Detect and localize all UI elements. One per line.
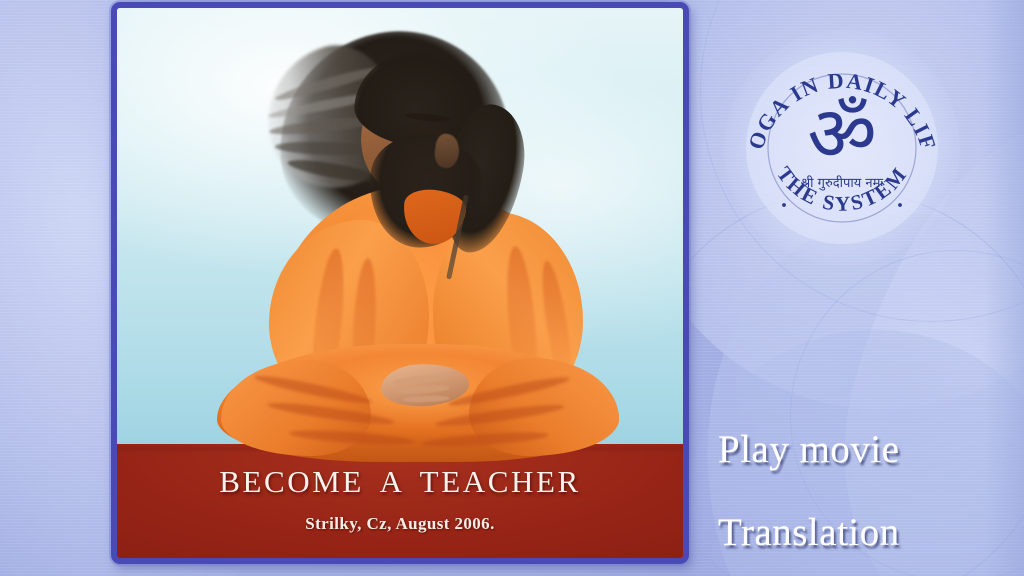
cover-title: BECOME A TEACHER [117, 464, 683, 500]
logo-dot [898, 203, 902, 207]
logo-sanskrit-text: श्री गुरुदीपाय नमः [801, 175, 883, 191]
dvd-cover-panel[interactable]: BECOME A TEACHER Strilky, Cz, August 200… [111, 2, 689, 564]
menu-list: Play movie Translation [718, 428, 1018, 556]
logo-svg: YOGA IN DAILY LIFE THE SYSTEM ॐ श्री गुर… [742, 48, 942, 248]
logo-dot [782, 203, 786, 207]
cover-subtitle: Strilky, Cz, August 2006. [117, 514, 683, 534]
menu-item-play-movie[interactable]: Play movie [718, 428, 1018, 473]
menu-item-translation[interactable]: Translation [718, 511, 1018, 556]
om-symbol-icon: ॐ [807, 89, 876, 178]
dvd-cover-artwork: BECOME A TEACHER Strilky, Cz, August 200… [117, 8, 683, 558]
yoga-in-daily-life-logo: YOGA IN DAILY LIFE THE SYSTEM ॐ श्री गुर… [742, 48, 942, 248]
dvd-menu-screen: BECOME A TEACHER Strilky, Cz, August 200… [0, 0, 1024, 576]
